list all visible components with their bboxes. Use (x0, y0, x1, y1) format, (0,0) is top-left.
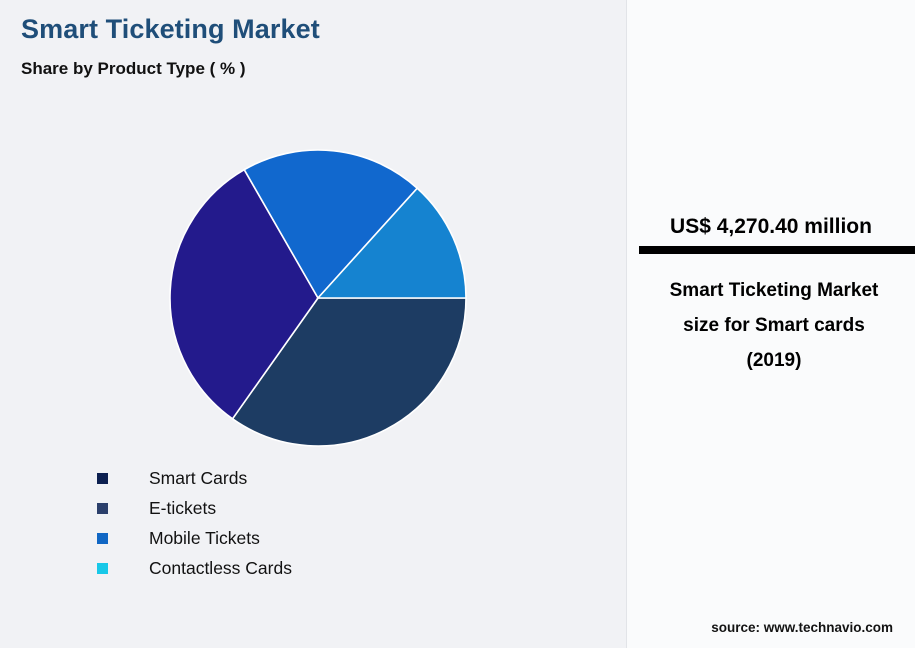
legend-item-e-tickets[interactable]: E-tickets (97, 493, 292, 523)
legend-item-smart-cards[interactable]: Smart Cards (97, 463, 292, 493)
pie-slice-group (170, 150, 466, 446)
legend-item-mobile-tickets[interactable]: Mobile Tickets (97, 523, 292, 553)
legend-swatch-icon (97, 503, 108, 514)
legend-swatch-icon (97, 473, 108, 484)
legend-swatch-icon (97, 533, 108, 544)
legend-item-label: Smart Cards (149, 468, 247, 489)
chart-panel: Smart Ticketing Market Share by Product … (0, 0, 626, 648)
chart-legend: Smart Cards E-tickets Mobile Tickets Con… (97, 463, 292, 583)
source-note: source: www.technavio.com (627, 620, 893, 635)
callout-divider (639, 246, 915, 254)
chart-subtitle: Share by Product Type ( % ) (21, 59, 246, 79)
page-title: Smart Ticketing Market (21, 14, 320, 45)
chart-page: Smart Ticketing Market Share by Product … (0, 0, 915, 648)
legend-item-label: Mobile Tickets (149, 528, 260, 549)
legend-item-label: E-tickets (149, 498, 216, 519)
pie-chart (168, 149, 468, 449)
callout-panel: US$ 4,270.40 million Smart Ticketing Mar… (626, 0, 915, 648)
pie-chart-svg (168, 149, 468, 449)
callout-value: US$ 4,270.40 million (627, 215, 915, 239)
legend-item-contactless-cards[interactable]: Contactless Cards (97, 553, 292, 583)
callout-description: Smart Ticketing Market size for Smart ca… (655, 273, 893, 378)
legend-swatch-icon (97, 563, 108, 574)
legend-item-label: Contactless Cards (149, 558, 292, 579)
